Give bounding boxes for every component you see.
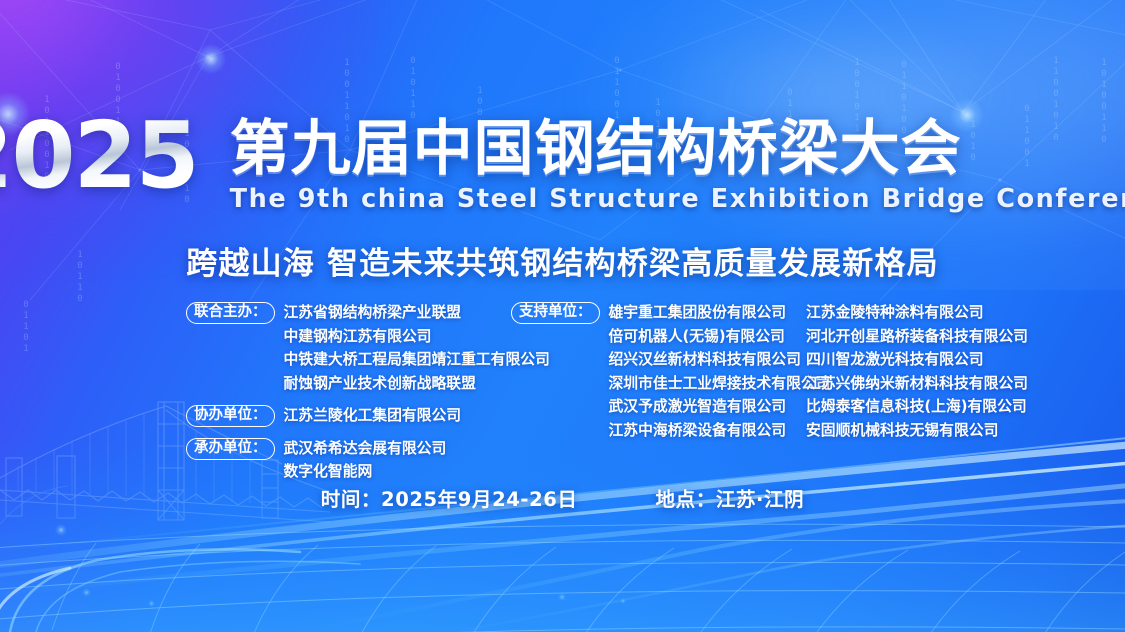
cohost-list: 江苏省钢结构桥梁产业联盟 中建钢构江苏有限公司 中铁建大桥工程局集团靖江重工有限… [284,301,550,395]
list-item: 耐蚀钢产业技术创新战略联盟 [284,372,550,396]
supporter-list-continued: 江苏金陵特种涂料有限公司 河北开创星路桥装备科技有限公司 四川智龙激光科技有限公… [806,301,1028,442]
time-label: 时间： [321,483,381,512]
label-coorganizer: 协办单位： [186,405,275,427]
list-item: 武汉予成激光智造有限公司 [609,395,831,419]
organizers-column-right: 江苏金陵特种涂料有限公司 河北开创星路桥装备科技有限公司 四川智龙激光科技有限公… [806,301,1106,442]
organizer-group-cohost: 联合主办： 江苏省钢结构桥梁产业联盟 中建钢构江苏有限公司 中铁建大桥工程局集团… [186,301,511,395]
label-undertaker: 承办单位： [186,438,275,460]
organizer-group-supporter-continued: 江苏金陵特种涂料有限公司 河北开创星路桥装备科技有限公司 四川智龙激光科技有限公… [806,301,1106,442]
conference-banner: 10110010 01001101 11010010 10011010 0101… [0,0,1125,632]
undertaker-list: 武汉希希达会展有限公司 数字化智能网 [284,437,447,484]
title-block: 第九届中国钢结构桥梁大会 The 9th china Steel Structu… [230,118,1125,214]
list-item: 江苏省钢结构桥梁产业联盟 [284,301,550,325]
time-value: 2025年9月24-26日 [381,483,578,512]
list-item: 中铁建大桥工程局集团靖江重工有限公司 [284,348,550,372]
list-item: 江苏兴佛纳米新材料科技有限公司 [806,372,1028,396]
conference-tagline: 跨越山海 智造未来共筑钢结构桥梁高质量发展新格局 [0,238,1125,283]
organizers-section: 联合主办： 江苏省钢结构桥梁产业联盟 中建钢构江苏有限公司 中铁建大桥工程局集团… [186,301,1106,484]
event-footer: 时间： 2025年9月24-26日 地点： 江苏·江阴 [0,483,1125,512]
list-item: 江苏金陵特种涂料有限公司 [806,301,1028,325]
list-item: 河北开创星路桥装备科技有限公司 [806,325,1028,349]
year-2025: 2025 [0,114,214,199]
list-item: 数字化智能网 [284,460,447,484]
list-item: 江苏中海桥梁设备有限公司 [609,419,831,443]
list-item: 江苏兰陵化工集团有限公司 [284,404,462,428]
organizers-column-middle: 支持单位： 雄宇重工集团股份有限公司 倍可机器人(无锡)有限公司 绍兴汉丝新材料… [511,301,806,442]
title-row: 2025 第九届中国钢结构桥梁大会 The 9th china Steel St… [0,118,1125,216]
conference-title-en: The 9th china Steel Structure Exhibition… [230,184,1125,214]
organizer-group-coorganizer: 协办单位： 江苏兰陵化工集团有限公司 [186,404,511,428]
list-item: 中建钢构江苏有限公司 [284,325,550,349]
conference-title-cn: 第九届中国钢结构桥梁大会 [230,118,1125,180]
list-item: 安固顺机械科技无锡有限公司 [806,419,1028,443]
list-item: 倍可机器人(无锡)有限公司 [609,325,831,349]
banner-content: 2025 第九届中国钢结构桥梁大会 The 9th china Steel St… [0,0,1125,632]
organizer-group-supporter: 支持单位： 雄宇重工集团股份有限公司 倍可机器人(无锡)有限公司 绍兴汉丝新材料… [511,301,806,442]
list-item: 绍兴汉丝新材料科技有限公司 [609,348,831,372]
event-time: 时间： 2025年9月24-26日 [321,483,578,512]
supporter-list: 雄宇重工集团股份有限公司 倍可机器人(无锡)有限公司 绍兴汉丝新材料科技有限公司… [609,301,831,442]
event-place: 地点： 江苏·江阴 [656,483,805,512]
list-item: 深圳市佳士工业焊接技术有限公司 [609,372,831,396]
list-item: 四川智龙激光科技有限公司 [806,348,1028,372]
coorganizer-list: 江苏兰陵化工集团有限公司 [284,404,462,428]
organizer-group-undertaker: 承办单位： 武汉希希达会展有限公司 数字化智能网 [186,437,511,484]
list-item: 比姆泰客信息科技(上海)有限公司 [806,395,1028,419]
organizers-column-left: 联合主办： 江苏省钢结构桥梁产业联盟 中建钢构江苏有限公司 中铁建大桥工程局集团… [186,301,511,484]
place-label: 地点： [656,483,716,512]
label-supporter: 支持单位： [511,302,600,324]
place-value: 江苏·江阴 [716,483,804,512]
list-item: 武汉希希达会展有限公司 [284,437,447,461]
list-item: 雄宇重工集团股份有限公司 [609,301,831,325]
label-cohost: 联合主办： [186,302,275,324]
